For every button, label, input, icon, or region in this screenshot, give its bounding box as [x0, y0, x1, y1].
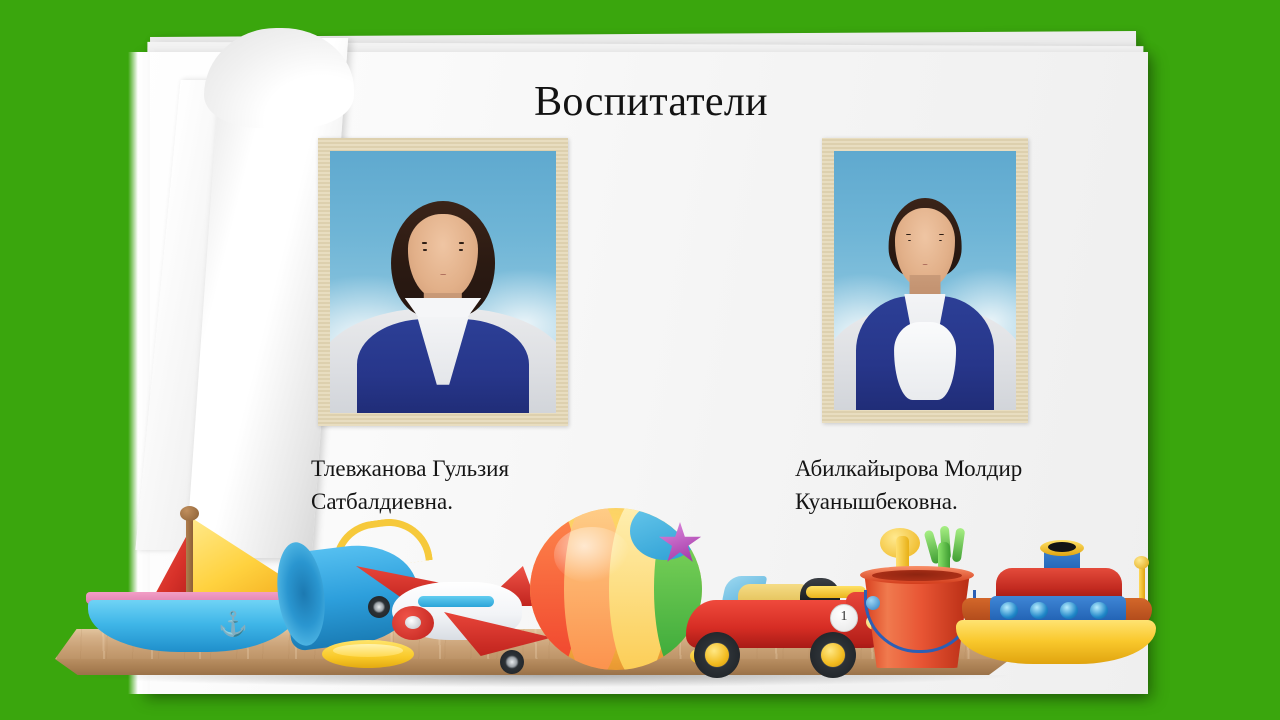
airplane-rear-wheel	[368, 596, 390, 618]
red-bucket-handle-knob	[866, 596, 880, 610]
slide-canvas: Воспитатели	[0, 0, 1280, 720]
teacher-portrait-2	[834, 151, 1016, 410]
portrait-vest-1	[357, 319, 529, 413]
tugboat-porthole-3	[1060, 602, 1078, 619]
tugboat-porthole-2	[1030, 602, 1048, 619]
portrait-brow-right-1	[459, 242, 464, 243]
portrait-eye-right-1	[459, 249, 463, 250]
airplane-nose	[392, 606, 434, 640]
airplane-stripe	[418, 596, 494, 607]
sailboat-mast-knob	[180, 506, 199, 521]
yellow-dish-toy	[322, 640, 414, 668]
teacher-photo-frame-1	[318, 138, 568, 426]
race-car-number-badge: 1	[830, 604, 858, 632]
tugboat-mast-ball	[1134, 556, 1149, 569]
slide-title-text: Воспитатели	[534, 79, 768, 125]
shelf-drop-shadow	[78, 675, 1008, 687]
red-bucket-interior	[872, 570, 962, 581]
sailboat-mast	[186, 512, 193, 602]
teacher-photo-frame-2	[822, 138, 1028, 423]
tugboat-porthole-1	[1000, 602, 1018, 619]
portrait-brow-left-2	[906, 234, 910, 235]
beach-ball-sphere	[530, 508, 702, 670]
portrait-ruffle-blouse-2	[894, 322, 956, 400]
beach-ball-highlight	[554, 527, 630, 582]
teacher-name-2: Абилкайырова Молдир Куанышбековна.	[795, 452, 1145, 518]
tugboat-porthole-4	[1090, 602, 1108, 619]
portrait-mouth-1	[440, 274, 446, 275]
tugboat-funnel-opening	[1048, 542, 1076, 552]
portrait-eye-left-1	[423, 249, 427, 250]
portrait-mouth-2	[923, 264, 928, 265]
portrait-eye-left-2	[908, 240, 911, 241]
portrait-eye-right-2	[939, 240, 942, 241]
slide-title: Воспитатели	[0, 78, 1280, 126]
airplane-front-wheel	[500, 650, 524, 674]
portrait-brow-left-1	[422, 242, 427, 243]
race-car-rear-hubcap	[705, 643, 729, 667]
portrait-brow-right-2	[939, 234, 943, 235]
teacher-portrait-1	[330, 151, 556, 413]
race-car-front-hubcap	[821, 643, 845, 667]
anchor-icon: ⚓	[218, 612, 238, 638]
